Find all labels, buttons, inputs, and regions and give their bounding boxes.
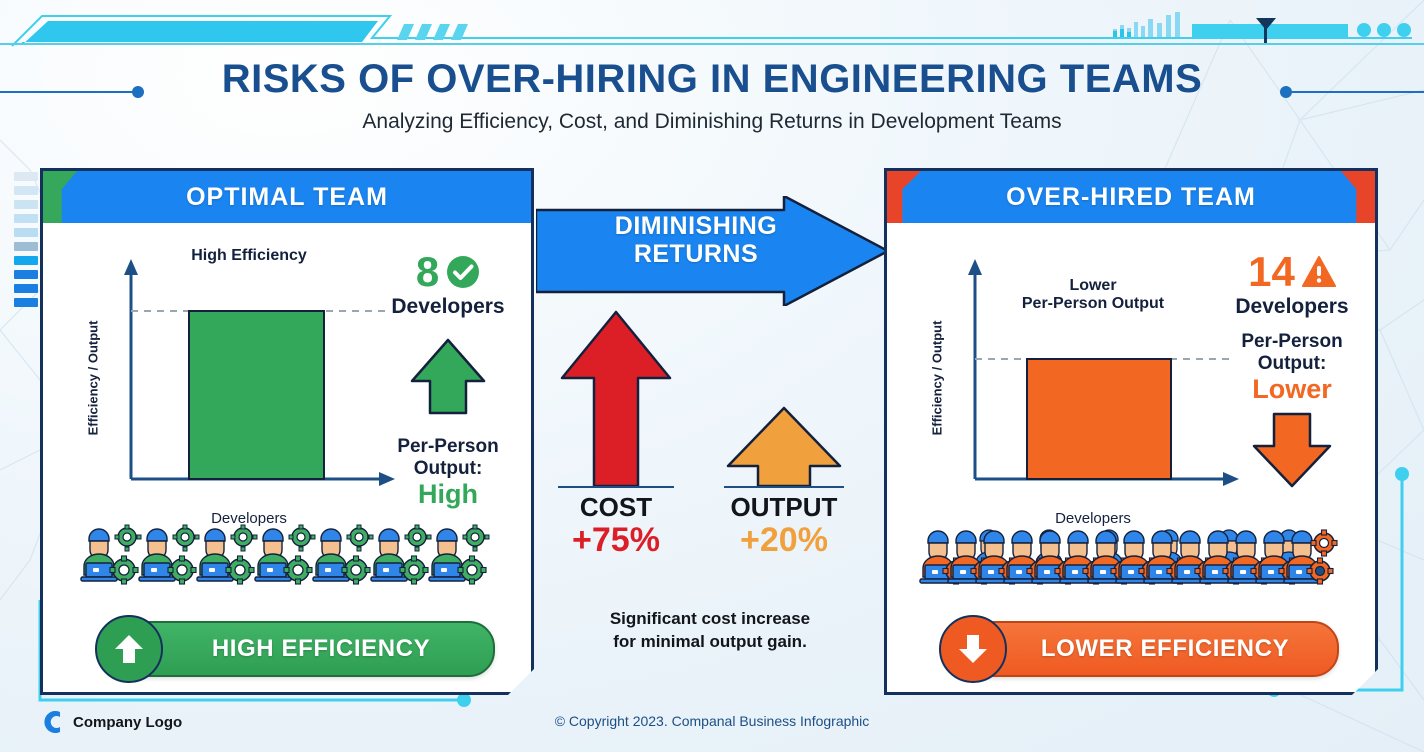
optimal-team-panel: OPTIMAL TEAM Efficiency / Output High Ef… bbox=[40, 168, 534, 695]
arrow-down-icon bbox=[939, 615, 1007, 683]
diminishing-returns-line2: RETURNS bbox=[634, 240, 758, 268]
per-person-output-label: Per-Person Output: bbox=[373, 436, 523, 480]
per-person-output-label: Per-Person Output: bbox=[1217, 331, 1367, 375]
diminishing-returns-label: DIMINISHING RETURNS bbox=[536, 212, 856, 268]
output-arrow-up-icon bbox=[724, 404, 844, 498]
center-note-line1: Significant cost increase bbox=[610, 609, 810, 628]
optimal-team-title: OPTIMAL TEAM bbox=[186, 183, 388, 212]
developer-count-row: 14 bbox=[1217, 251, 1367, 293]
developers-with-gears-icon-group bbox=[77, 521, 497, 585]
over-hired-team-panel: OVER-HIRED TEAM Efficiency / Output Lowe… bbox=[884, 168, 1378, 695]
developers-with-gears-icon-group bbox=[916, 521, 1346, 585]
copyright-text: © Copyright 2023. Companal Business Info… bbox=[0, 713, 1424, 729]
footer: Company Logo © Copyright 2023. Companal … bbox=[0, 694, 1424, 752]
cost-output-metrics: COST +75% OUTPUT +20% bbox=[536, 308, 884, 568]
infographic-canvas: RISKS OF OVER-HIRING IN ENGINEERING TEAM… bbox=[0, 0, 1424, 752]
chart-svg bbox=[99, 253, 399, 503]
over-hired-team-body: Efficiency / Output Lower Per-Person Out… bbox=[887, 223, 1375, 695]
output-metric: OUTPUT +20% bbox=[712, 494, 856, 559]
optimal-team-header: OPTIMAL TEAM bbox=[43, 171, 531, 223]
page-subtitle: Analyzing Efficiency, Cost, and Diminish… bbox=[0, 110, 1424, 134]
optimal-team-chart: Efficiency / Output High Efficiency Deve… bbox=[99, 253, 399, 503]
warning-triangle-icon bbox=[1302, 255, 1336, 289]
chart-y-axis-label: Efficiency / Output bbox=[86, 321, 101, 436]
over-hired-team-people-row bbox=[887, 521, 1375, 585]
optimal-team-stats: 8 Developers Per-Person Output: High bbox=[373, 251, 523, 509]
arrow-up-icon bbox=[95, 615, 163, 683]
center-comparison-column: DIMINISHING RETURNS COST +75% OUTPUT +20… bbox=[536, 168, 884, 695]
cost-metric-value: +75% bbox=[544, 522, 688, 559]
red-corner-accent-right bbox=[1341, 171, 1375, 223]
developer-count-label: Developers bbox=[1217, 295, 1367, 319]
arrow-up-icon bbox=[408, 335, 488, 417]
red-corner-accent-left bbox=[887, 171, 921, 223]
title-block: RISKS OF OVER-HIRING IN ENGINEERING TEAM… bbox=[0, 56, 1424, 134]
diminishing-returns-line1: DIMINISHING bbox=[615, 212, 777, 240]
chart-bar-caption: High Efficiency bbox=[99, 247, 399, 265]
over-hired-team-header: OVER-HIRED TEAM bbox=[887, 171, 1375, 223]
output-metric-value: +20% bbox=[712, 522, 856, 559]
cost-metric: COST +75% bbox=[544, 494, 688, 559]
output-metric-name: OUTPUT bbox=[712, 494, 856, 520]
high-efficiency-label: HIGH EFFICIENCY bbox=[163, 635, 493, 663]
chart-bar-caption-line2: Per-Person Output bbox=[1022, 295, 1164, 312]
high-efficiency-badge[interactable]: HIGH EFFICIENCY bbox=[99, 621, 495, 677]
over-hired-team-stats: 14 Developers Per-Person Output: Lower bbox=[1217, 251, 1367, 495]
check-circle-icon bbox=[446, 255, 480, 289]
lower-efficiency-badge[interactable]: LOWER EFFICIENCY bbox=[943, 621, 1339, 677]
lower-efficiency-label: LOWER EFFICIENCY bbox=[1007, 635, 1337, 663]
side-bars-decoration bbox=[14, 172, 38, 312]
developer-count-row: 8 bbox=[373, 251, 523, 293]
chart-bar-caption: Lower Per-Person Output bbox=[943, 277, 1243, 314]
chart-y-axis-label: Efficiency / Output bbox=[930, 321, 945, 436]
top-hud-decoration bbox=[0, 0, 1424, 56]
developer-count-label: Developers bbox=[373, 295, 523, 319]
optimal-team-people-row bbox=[43, 521, 531, 585]
cost-metric-name: COST bbox=[544, 494, 688, 520]
optimal-team-body: Efficiency / Output High Efficiency Deve… bbox=[43, 223, 531, 695]
per-person-output-value: Lower bbox=[1217, 375, 1367, 405]
page-title: RISKS OF OVER-HIRING IN ENGINEERING TEAM… bbox=[0, 56, 1424, 102]
per-person-output-value: High bbox=[373, 480, 523, 510]
chart-bar-caption-line1: Lower bbox=[1069, 277, 1116, 294]
over-hired-team-title: OVER-HIRED TEAM bbox=[1006, 183, 1256, 212]
green-corner-accent bbox=[43, 171, 77, 223]
arrow-down-icon bbox=[1250, 410, 1334, 490]
center-note-line2: for minimal output gain. bbox=[613, 632, 807, 651]
center-note: Significant cost increase for minimal ou… bbox=[536, 608, 884, 654]
over-hired-team-chart: Efficiency / Output Lower Per-Person Out… bbox=[943, 253, 1243, 503]
developer-count: 14 bbox=[1248, 251, 1295, 293]
cost-arrow-up-icon bbox=[558, 308, 674, 498]
developer-count: 8 bbox=[416, 251, 439, 293]
